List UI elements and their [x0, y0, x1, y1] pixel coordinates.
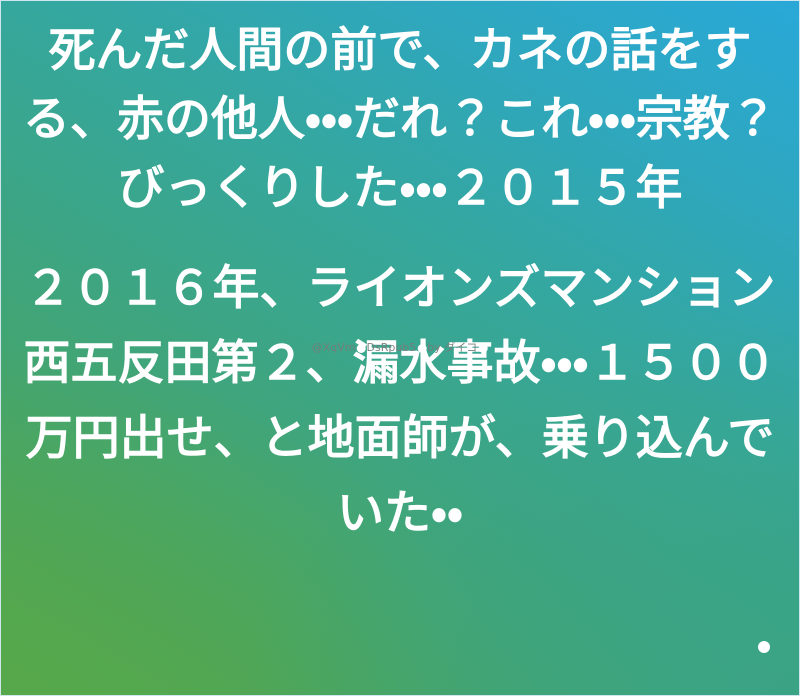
text-content-stack: 死んだ人間の前で、カネの話をする、赤の他人・・・だれ？これ・・・宗教？ びっくり… — [1, 1, 799, 695]
text-image-card: 死んだ人間の前で、カネの話をする、赤の他人・・・だれ？これ・・・宗教？ びっくり… — [0, 0, 800, 696]
redaction-dot-icon-corner — [758, 641, 770, 653]
paragraph-second-block: ２０１６年、ライオンズマンション西五反田第２、漏水事故・・・１５００万円出せ、と… — [15, 250, 785, 550]
paragraph-spacer — [15, 222, 785, 250]
paragraph-first-block: 死んだ人間の前で、カネの話をする、赤の他人・・・だれ？これ・・・宗教？ びっくり… — [15, 15, 785, 222]
